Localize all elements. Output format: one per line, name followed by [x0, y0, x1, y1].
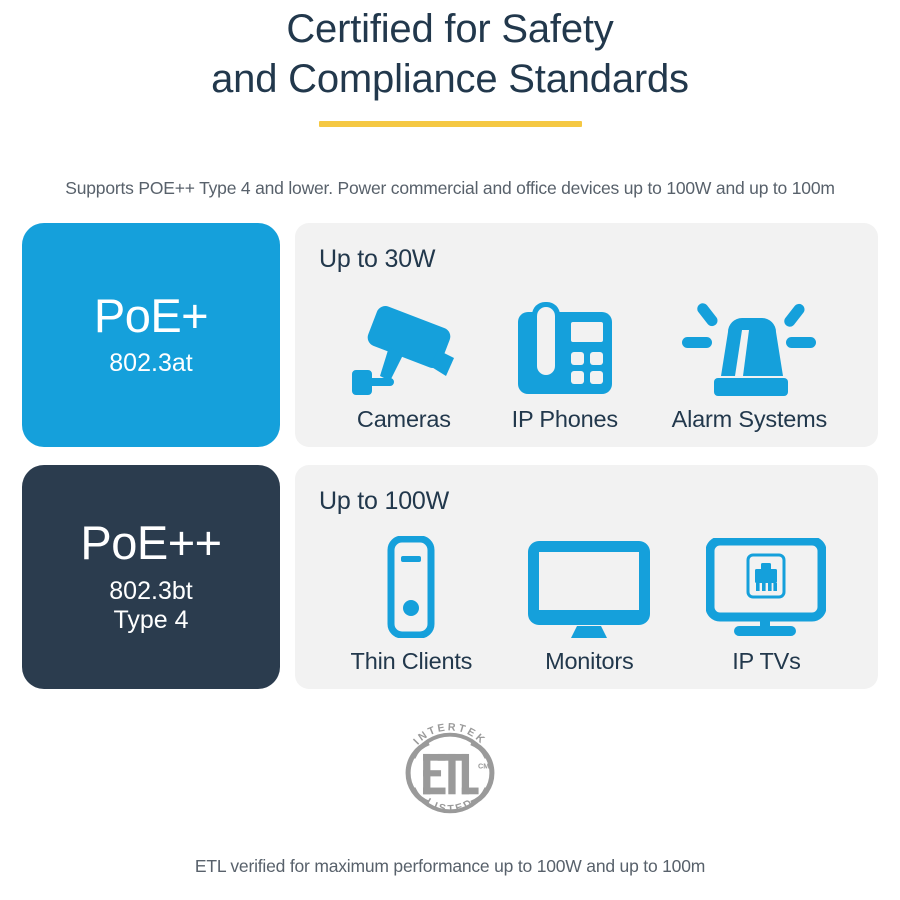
device-item: IP TVs: [706, 534, 826, 675]
device-item: Monitors: [527, 534, 651, 675]
tier-panel-heading: Up to 100W: [319, 487, 858, 516]
monitor-icon: [527, 534, 651, 638]
logo-cm-mark: CM: [478, 762, 489, 771]
tier-row-poe-plus: PoE+ 802.3at Up to 30W: [22, 223, 878, 447]
tier-badge-title: PoE++: [80, 518, 221, 567]
logo-bottom-text: LISTED: [424, 796, 477, 815]
tier-row-poe-plus-plus: PoE++ 802.3bt Type 4 Up to 100W T: [22, 465, 878, 689]
tier-panel-heading: Up to 30W: [319, 245, 858, 274]
tier-badge-poe-plus-plus: PoE++ 802.3bt Type 4: [22, 465, 280, 689]
tier-panel-poe-plus: Up to 30W Cameras: [295, 223, 878, 447]
page-footer: INTERTEK LISTED CM ETL verified for maxi…: [0, 717, 900, 877]
tier-badge-standard-line-2: Type 4: [109, 606, 192, 636]
device-list: Thin Clients Monitors: [319, 516, 858, 675]
poe-tier-list: PoE+ 802.3at Up to 30W: [0, 223, 900, 689]
subtitle-text: Supports POE++ Type 4 and lower. Power c…: [0, 178, 900, 199]
security-camera-icon: [350, 292, 458, 396]
device-label: Alarm Systems: [672, 406, 827, 433]
device-item: Alarm Systems: [672, 292, 827, 433]
footer-note-text: ETL verified for maximum performance up …: [0, 856, 900, 877]
device-label: IP TVs: [732, 648, 800, 675]
device-label: Monitors: [545, 648, 634, 675]
thin-client-icon: [387, 534, 435, 638]
page-header: Certified for Safety and Compliance Stan…: [0, 0, 900, 127]
page-title-line-2: and Compliance Standards: [0, 54, 900, 104]
ip-phone-icon: [516, 292, 614, 396]
tier-badge-standard: 802.3bt Type 4: [109, 577, 192, 636]
tier-panel-poe-plus-plus: Up to 100W Thin Clients: [295, 465, 878, 689]
device-item: Thin Clients: [351, 534, 473, 675]
tier-badge-standard: 802.3at: [109, 349, 192, 379]
title-underline-rule: [319, 121, 582, 127]
tier-badge-title: PoE+: [94, 291, 208, 340]
page-title-line-1: Certified for Safety: [0, 4, 900, 54]
device-item: Cameras: [350, 292, 458, 433]
tier-badge-standard-line-1: 802.3at: [109, 349, 192, 379]
device-item: IP Phones: [512, 292, 618, 433]
svg-text:LISTED: LISTED: [424, 796, 477, 815]
device-label: Thin Clients: [351, 648, 473, 675]
tier-badge-standard-line-1: 802.3bt: [109, 577, 192, 607]
tier-badge-poe-plus: PoE+ 802.3at: [22, 223, 280, 447]
etl-intertek-listed-logo-icon: INTERTEK LISTED CM: [394, 717, 506, 834]
alarm-siren-icon: [680, 292, 818, 396]
device-list: Cameras: [319, 274, 858, 433]
device-label: Cameras: [357, 406, 451, 433]
device-label: IP Phones: [512, 406, 618, 433]
ip-tv-icon: [706, 534, 826, 638]
